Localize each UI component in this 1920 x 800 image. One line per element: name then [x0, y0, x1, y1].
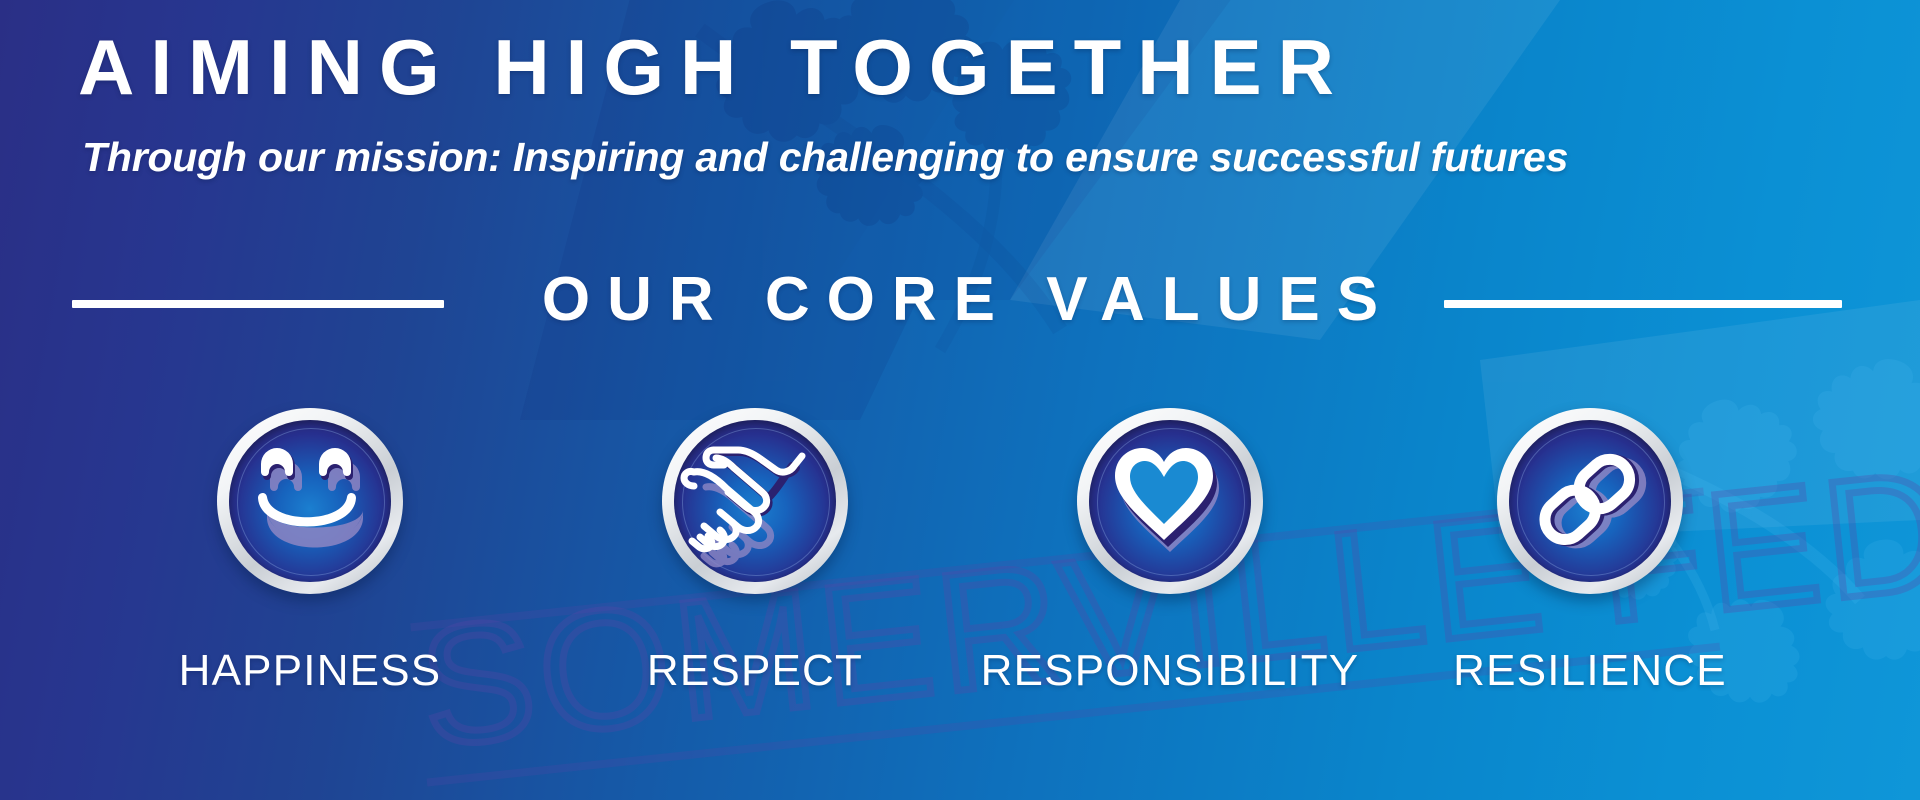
value-item-resilience: RESILIENCE	[1475, 408, 1705, 594]
value-icon-frame	[662, 408, 848, 594]
value-icon-frame	[1077, 408, 1263, 594]
value-item-respect: RESPECT	[640, 408, 870, 594]
handshake-icon	[674, 420, 836, 582]
value-label: RESPONSIBILITY	[981, 646, 1360, 696]
value-item-happiness: HAPPINESS	[195, 408, 425, 594]
value-icon-frame	[217, 408, 403, 594]
core-values-heading-band: OUR CORE VALUES	[0, 264, 1920, 354]
value-label: RESPECT	[647, 646, 863, 696]
mission-subtitle: Through our mission: Inspiring and chall…	[82, 134, 1568, 181]
smiley-face-icon	[229, 420, 391, 582]
value-icon-frame	[1497, 408, 1683, 594]
value-item-responsibility: RESPONSIBILITY	[1055, 408, 1285, 594]
heart-icon	[1089, 420, 1251, 582]
value-label: RESILIENCE	[1453, 646, 1727, 696]
core-values-heading: OUR CORE VALUES	[0, 264, 1920, 335]
chain-link-icon	[1509, 420, 1671, 582]
core-values-banner: SOMERVILLE FEDERATION AIMING HIGH TOGETH…	[0, 0, 1920, 800]
core-values-list: HAPPINESS	[0, 408, 1920, 668]
page-title: AIMING HIGH TOGETHER	[78, 28, 1350, 106]
value-label: HAPPINESS	[179, 646, 442, 696]
